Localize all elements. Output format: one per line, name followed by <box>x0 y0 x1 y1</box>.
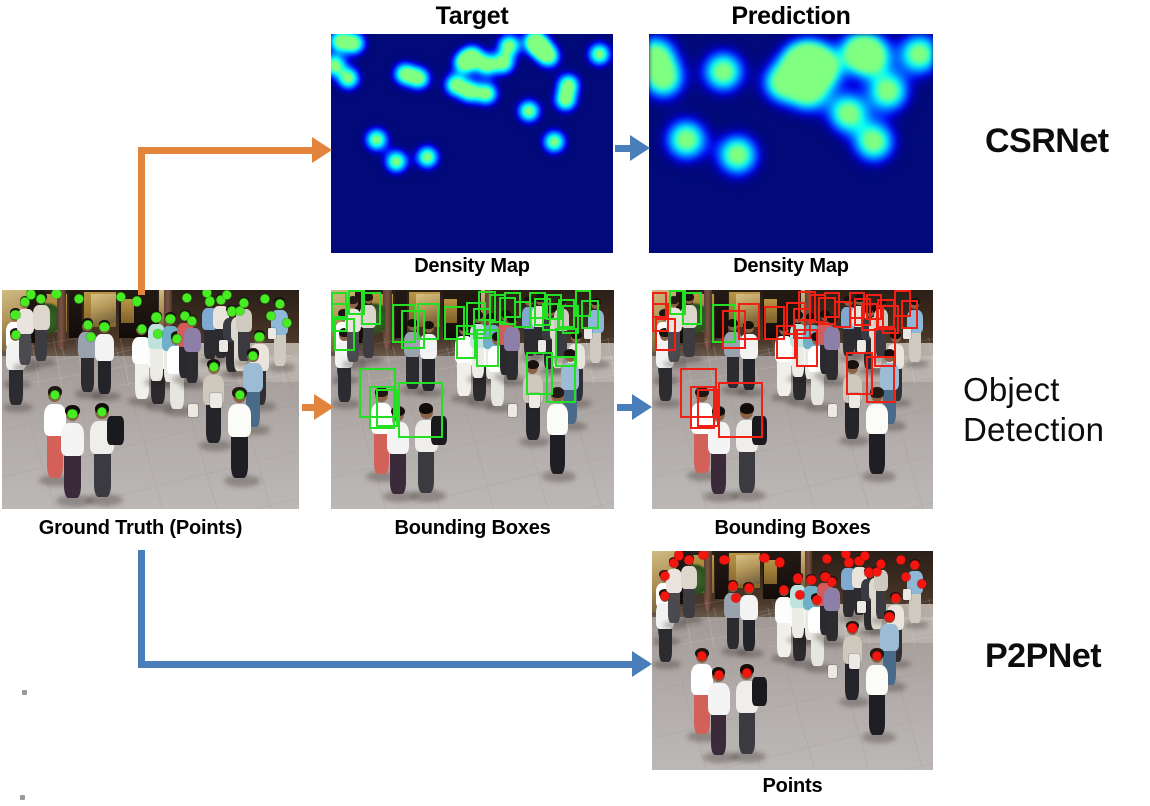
person-legs <box>186 349 198 383</box>
person-legs <box>550 430 566 474</box>
dmap-pred-canvas <box>649 34 933 253</box>
person-legs <box>711 449 727 494</box>
backpack <box>107 416 123 446</box>
handbag-3 <box>828 404 838 418</box>
arrow-detection-target-to-prediction-head-icon <box>632 394 652 420</box>
person-torso <box>33 305 50 329</box>
handbag-2 <box>849 654 860 669</box>
figure-root: Target Prediction CSRNet Object Detectio… <box>0 0 1150 806</box>
dmap-target-canvas <box>331 34 613 253</box>
arrow-gt-to-csrnet-head-icon <box>312 137 332 163</box>
stray-mark-upper <box>22 690 27 695</box>
person-legs <box>743 616 755 651</box>
row-label-p2pnet: P2PNet <box>985 637 1150 676</box>
row-label-object-detection: Object Detection <box>963 370 1150 451</box>
person-torso <box>866 665 887 696</box>
prediction-bounding-box <box>738 303 760 340</box>
shop-window-5 <box>736 555 760 583</box>
target-bounding-box <box>361 292 381 325</box>
shop-window-5 <box>91 294 116 322</box>
person-legs <box>826 347 838 380</box>
person-legs <box>869 691 885 735</box>
handbag-0 <box>857 601 865 613</box>
target-bounding-box <box>334 318 355 351</box>
target-bounding-box <box>398 382 443 438</box>
handbag-1 <box>268 328 276 339</box>
target-density-map <box>331 34 613 253</box>
stray-mark-lower <box>20 795 25 800</box>
person-legs <box>506 347 518 380</box>
target-bounding-boxes <box>331 290 614 509</box>
person-legs <box>826 608 838 641</box>
person-legs <box>659 625 672 662</box>
prediction-bounding-box <box>718 382 763 438</box>
person-torso <box>95 334 113 360</box>
handbag-1 <box>903 589 910 600</box>
person-legs <box>150 345 163 380</box>
person-torso <box>228 404 251 437</box>
person-torso <box>880 624 899 651</box>
column-title-target: Target <box>331 2 613 31</box>
person-legs <box>659 364 672 401</box>
person-legs <box>739 709 755 754</box>
person-torso <box>243 363 263 391</box>
person-legs <box>35 326 47 360</box>
prediction-bounding-box <box>901 300 918 330</box>
handbag-2 <box>849 393 860 408</box>
person-torso <box>740 595 757 620</box>
person-legs <box>363 325 375 358</box>
prediction-bounding-box <box>682 292 702 325</box>
person-legs <box>727 614 739 649</box>
ground-truth-image <box>2 290 299 509</box>
person-torso <box>547 404 569 435</box>
handbag-1 <box>903 328 910 339</box>
handbag-3 <box>188 404 198 418</box>
person-torso <box>866 404 887 435</box>
target-bounding-box <box>376 389 398 427</box>
target-bounding-box <box>476 329 499 366</box>
row-label-object-detection-line2: Detection <box>963 410 1150 450</box>
caption-ground-truth-points: Ground Truth (Points) <box>0 517 289 540</box>
person-legs <box>711 710 727 755</box>
person-torso <box>681 566 697 589</box>
person-legs <box>9 366 23 405</box>
prediction-bounding-box <box>697 389 719 427</box>
person-torso <box>708 683 730 714</box>
caption-prediction-density-map: Density Map <box>649 255 933 278</box>
person-torso <box>824 327 840 350</box>
handbag-2 <box>529 393 540 408</box>
arrow-gt-to-p2pnet-horizontal <box>138 661 638 668</box>
person-legs <box>418 448 434 494</box>
row-label-csrnet: CSRNet <box>985 122 1150 161</box>
person-legs <box>231 432 247 478</box>
column-title-prediction: Prediction <box>649 2 933 31</box>
crowd-scene <box>2 290 299 509</box>
prediction-density-map <box>649 34 933 253</box>
prediction-bounding-box <box>796 329 818 366</box>
person-legs <box>683 586 695 619</box>
caption-prediction-points: Points <box>652 775 933 798</box>
person-torso <box>824 588 840 611</box>
caption-prediction-bounding-boxes: Bounding Boxes <box>652 517 933 540</box>
row-label-object-detection-line1: Object <box>963 370 1150 410</box>
caption-target-density-map: Density Map <box>331 255 613 278</box>
prediction-bounding-box <box>655 318 676 351</box>
person-torso <box>504 327 520 350</box>
target-bounding-box <box>417 303 439 340</box>
handbag-3 <box>828 665 838 679</box>
handbag-1 <box>584 328 591 339</box>
arrow-gt-to-p2pnet-head-icon <box>632 651 652 677</box>
prediction-bounding-boxes <box>652 290 933 509</box>
handbag-0 <box>219 340 228 352</box>
arrow-csrnet-target-to-prediction-head-icon <box>630 135 650 161</box>
person-legs <box>94 450 111 498</box>
caption-target-bounding-boxes: Bounding Boxes <box>331 517 614 540</box>
person-torso <box>61 423 84 456</box>
handbag-0 <box>538 340 546 352</box>
handbag-0 <box>857 340 865 352</box>
prediction-bounding-box <box>866 356 896 403</box>
crowd-scene <box>331 290 614 509</box>
person-legs <box>843 587 854 617</box>
person-legs <box>869 430 885 474</box>
target-bounding-box <box>581 300 599 330</box>
person-legs <box>792 605 804 638</box>
person-legs <box>390 449 406 494</box>
arrow-gt-to-csrnet-horizontal <box>138 147 316 154</box>
crowd-scene <box>652 551 933 770</box>
target-bounding-box <box>546 356 576 403</box>
prediction-points <box>652 551 933 770</box>
person-legs <box>739 448 755 493</box>
person-legs <box>98 357 111 394</box>
person-legs <box>683 325 695 358</box>
person-legs <box>204 327 215 359</box>
arrow-gt-to-detection-head-icon <box>314 394 334 420</box>
handbag-2 <box>210 393 222 408</box>
handbag-3 <box>508 404 518 418</box>
crowd-scene <box>652 290 933 509</box>
arrow-gt-to-csrnet-vertical <box>138 147 145 295</box>
person-legs <box>81 355 94 392</box>
person-legs <box>338 365 351 402</box>
arrow-gt-to-p2pnet-vertical <box>138 550 145 668</box>
person-torso <box>184 328 201 352</box>
person-legs <box>64 451 81 498</box>
backpack <box>752 677 767 707</box>
